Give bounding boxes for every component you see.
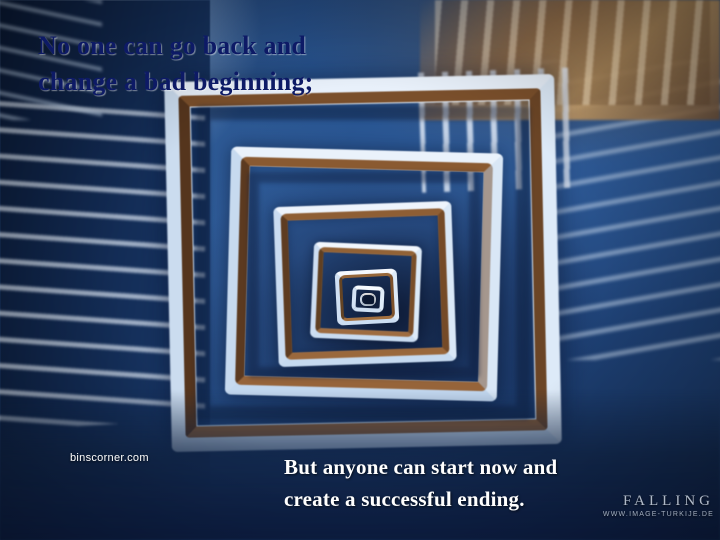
quote-top: No one can go back and change a bad begi…	[38, 28, 458, 100]
stairwell-vanishing-point	[364, 296, 374, 304]
quote-top-line-1: No one can go back and	[38, 28, 458, 64]
image-canvas: No one can go back and change a bad begi…	[0, 0, 720, 540]
photo-credit-url: WWW.IMAGE-TURKIJE.DE	[603, 511, 714, 518]
photo-credit-title: FALLING	[623, 493, 714, 509]
quote-top-line-2: change a bad beginning;	[38, 64, 458, 100]
quote-bottom-line-1: But anyone can start now and	[284, 452, 704, 484]
photo-credit: FALLING WWW.IMAGE-TURKIJE.DE	[603, 493, 714, 518]
site-watermark: binscorner.com	[70, 452, 149, 464]
